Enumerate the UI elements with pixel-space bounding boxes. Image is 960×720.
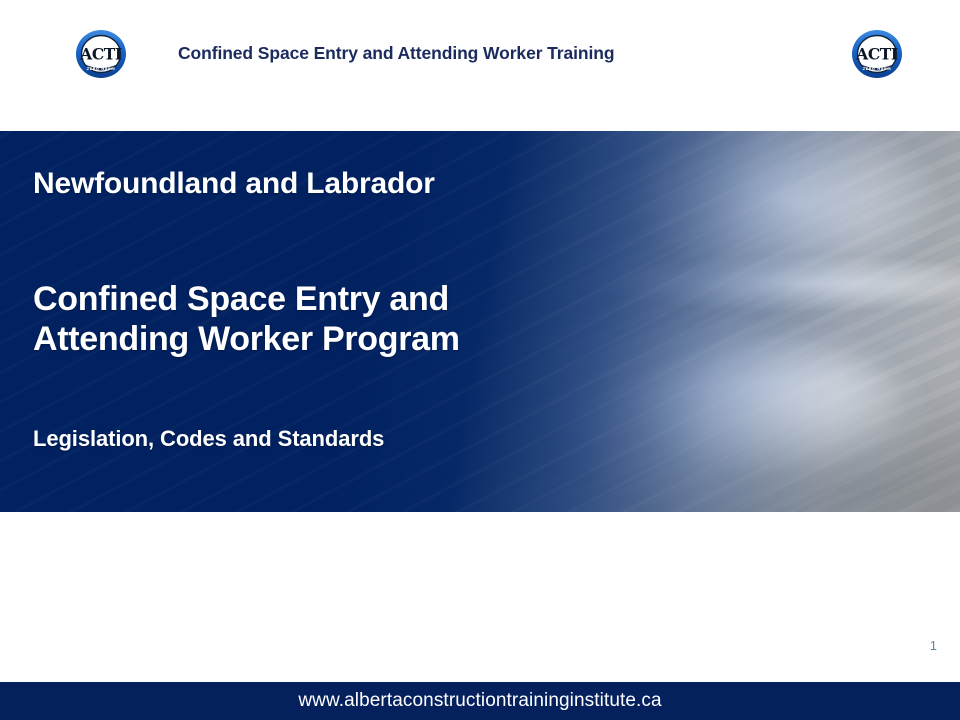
slide-content-area: [0, 512, 960, 682]
region-label: Newfoundland and Labrador: [33, 167, 435, 201]
acti-logo-left-icon: ACTI ZERO HARM: [73, 28, 129, 80]
program-subtitle: Legislation, Codes and Standards: [33, 426, 384, 452]
slide: ACTI ZERO HARM Confined Space Entry and …: [0, 0, 960, 720]
program-title-line2: Attending Worker Program: [33, 319, 633, 359]
page-title: Confined Space Entry and Attending Worke…: [178, 43, 778, 64]
svg-text:ACTI: ACTI: [855, 45, 898, 64]
program-title-line1: Confined Space Entry and: [33, 279, 633, 319]
svg-text:ACTI: ACTI: [79, 45, 122, 64]
program-title: Confined Space Entry and Attending Worke…: [33, 279, 633, 359]
svg-text:ZERO HARM: ZERO HARM: [863, 67, 892, 71]
page-number: 1: [930, 638, 937, 653]
slide-header: ACTI ZERO HARM Confined Space Entry and …: [0, 0, 960, 131]
acti-logo-right: ACTI ZERO HARM: [849, 28, 905, 80]
title-banner: Newfoundland and Labrador Confined Space…: [0, 131, 960, 512]
slide-footer: www.albertaconstructiontraininginstitute…: [0, 682, 960, 720]
banner-text-block: Newfoundland and Labrador Confined Space…: [33, 131, 653, 512]
svg-text:ZERO HARM: ZERO HARM: [87, 67, 116, 71]
footer-website-url: www.albertaconstructiontraininginstitute…: [0, 690, 960, 712]
acti-logo-right-icon: ACTI ZERO HARM: [849, 28, 905, 80]
acti-logo-left: ACTI ZERO HARM: [73, 28, 129, 80]
